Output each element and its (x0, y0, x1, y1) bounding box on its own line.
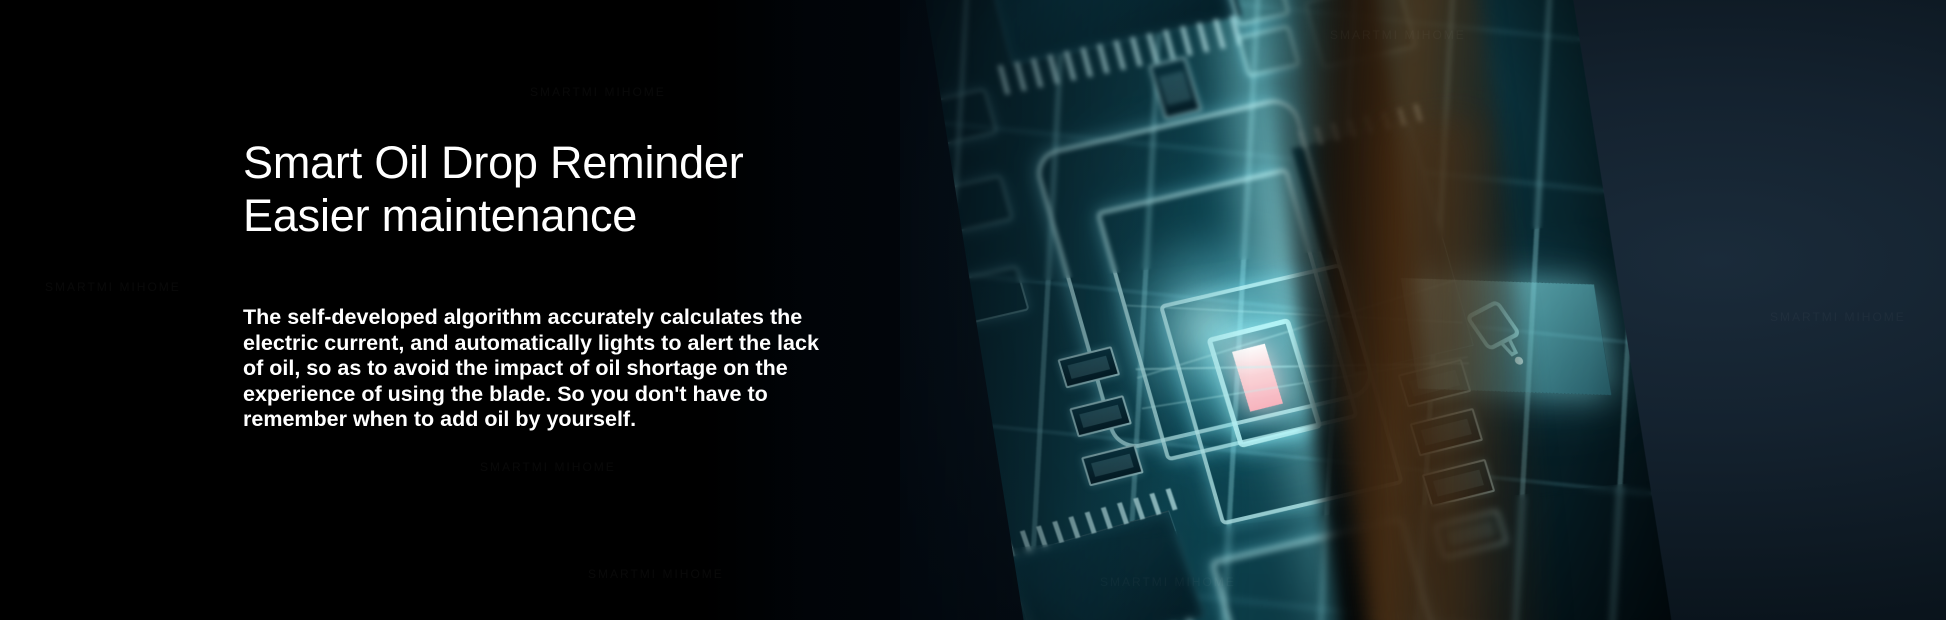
banner-body-copy: The self-developed algorithm accurately … (243, 305, 843, 433)
banner-text-block: Smart Oil Drop Reminder Easier maintenan… (243, 136, 1033, 433)
watermark: SMARTMI MIHOME (1770, 310, 1906, 324)
watermark: SMARTMI MIHOME (1100, 575, 1236, 589)
watermark: SMARTMI MIHOME (530, 85, 666, 99)
watermark: SMARTMI MIHOME (480, 460, 616, 474)
watermark: SMARTMI MIHOME (1330, 28, 1466, 42)
watermark: SMARTMI MIHOME (45, 280, 181, 294)
product-feature-banner: SMARTMI MIHOME SMARTMI MIHOME SMARTMI MI… (0, 0, 1946, 620)
watermark: SMARTMI MIHOME (588, 567, 724, 581)
banner-headline: Smart Oil Drop Reminder Easier maintenan… (243, 136, 1033, 242)
